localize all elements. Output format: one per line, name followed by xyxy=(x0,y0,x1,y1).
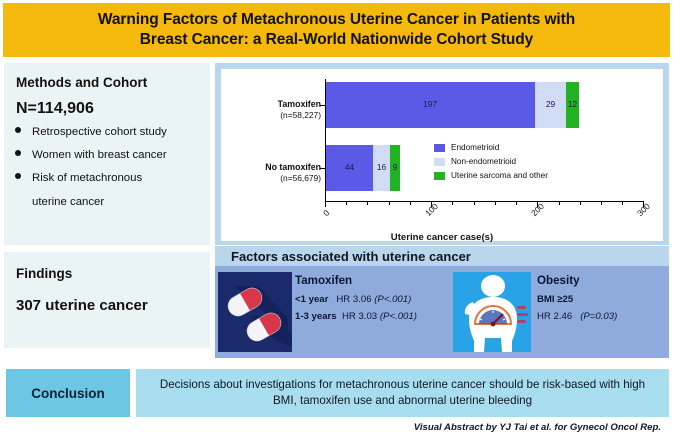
bullet-dot-icon xyxy=(15,127,21,133)
obese-person-scale-icon-svg xyxy=(453,272,531,352)
legend-swatch-icon xyxy=(434,158,445,166)
page-title-line-2: Breast Cancer: a Real-World Nationwide C… xyxy=(140,31,533,48)
methods-and-cohort-panel: Methods and Cohort N=114,906 Retrospecti… xyxy=(4,63,210,245)
chart-x-minor-tick xyxy=(367,201,368,205)
page-title-line-1: Warning Factors of Metachronous Uterine … xyxy=(98,11,575,28)
methods-bullet-text: Risk of metachronous xyxy=(32,172,142,184)
obese-person-scale-icon xyxy=(453,272,531,352)
legend-swatch-icon xyxy=(434,172,445,180)
legend-item-sarcoma: Uterine sarcoma and other xyxy=(434,171,548,180)
conclusion-text: Decisions about investigations for metac… xyxy=(150,377,655,410)
tamoxifen-period-1: <1 year xyxy=(295,294,328,305)
bullet-dot-icon xyxy=(15,150,21,156)
bar-value-sarcoma-tamoxifen: 12 xyxy=(565,99,580,109)
pill-capsules-icon xyxy=(218,272,292,352)
tamoxifen-factor-title: Tamoxifen xyxy=(295,274,447,287)
chart-x-minor-tick xyxy=(474,201,475,205)
legend-label: Non-endometrioid xyxy=(451,157,516,166)
chart-x-minor-tick xyxy=(495,201,496,205)
page-title: Warning Factors of Metachronous Uterine … xyxy=(82,10,591,51)
chart-x-tick-label: 100 xyxy=(423,201,440,218)
bar-value-sarcoma-no-tamoxifen: 9 xyxy=(389,162,401,172)
uterine-cancer-cases-chart-card: Tamoxifen (n=58,227) No tamoxifen (n=56,… xyxy=(215,63,669,245)
list-item: Retrospective cohort study xyxy=(14,124,200,140)
list-item: Women with breast cancer xyxy=(14,147,200,163)
chart-category-label-tamoxifen: Tamoxifen (n=58,227) xyxy=(227,99,321,121)
list-item-continuation: uterine cancer xyxy=(14,194,200,210)
factors-section: Tamoxifen <1 year HR 3.06 (P<.001) 1-3 y… xyxy=(215,266,669,358)
bar-value-endometrioid-tamoxifen: 197 xyxy=(406,99,454,109)
chart-x-minor-tick xyxy=(452,201,453,205)
list-item: Risk of metachronous xyxy=(14,170,200,186)
attribution-footer: Visual Abstract by YJ Tai et al. for Gyn… xyxy=(0,422,669,433)
chart-x-minor-tick xyxy=(410,201,411,205)
methods-bullet-text: Retrospective cohort study xyxy=(32,126,167,138)
obesity-pvalue: (P=0.03) xyxy=(580,311,617,322)
tamoxifen-pvalue-1: (P<.001) xyxy=(374,294,411,305)
chart-x-minor-tick xyxy=(622,201,623,205)
tamoxifen-hr-value-1: HR 3.06 xyxy=(336,294,371,305)
chart-category-sublabel: (n=58,227) xyxy=(227,110,321,121)
factors-section-heading: Factors associated with uterine cancer xyxy=(231,249,471,264)
obesity-factor-title: Obesity xyxy=(537,274,667,287)
chart-x-tick-label: 0 xyxy=(321,208,331,218)
bar-value-non-endometrioid-tamoxifen: 29 xyxy=(534,99,567,109)
tamoxifen-hr-row-1: <1 year HR 3.06 (P<.001) xyxy=(295,294,447,305)
findings-panel: Findings 307 uterine cancer xyxy=(4,252,210,348)
findings-value: 307 uterine cancer xyxy=(16,297,200,314)
conclusion-body-box: Decisions about investigations for metac… xyxy=(136,369,669,417)
methods-bullet-text: Women with breast cancer xyxy=(32,149,167,161)
chart-x-minor-tick xyxy=(516,201,517,205)
legend-item-non-endometrioid: Non-endometrioid xyxy=(434,157,548,166)
chart-category-sublabel: (n=56,679) xyxy=(227,173,321,184)
legend-label: Endometrioid xyxy=(451,143,499,152)
bar-value-endometrioid-no-tamoxifen: 44 xyxy=(328,162,371,172)
chart-x-tick-label: 200 xyxy=(529,201,546,218)
visual-abstract-page: Warning Factors of Metachronous Uterine … xyxy=(0,0,673,443)
chart-x-minor-tick xyxy=(580,201,581,205)
legend-label: Uterine sarcoma and other xyxy=(451,171,548,180)
legend-swatch-icon xyxy=(434,144,445,152)
obesity-criterion: BMI ≥25 xyxy=(537,294,667,305)
page-title-banner: Warning Factors of Metachronous Uterine … xyxy=(3,3,670,57)
cohort-size-value: N=114,906 xyxy=(16,100,200,118)
factors-section-heading-bar: Factors associated with uterine cancer xyxy=(215,246,669,266)
chart-x-axis-title: Uterine cancer case(s) xyxy=(221,232,663,243)
chart-x-minor-tick xyxy=(346,201,347,205)
chart-category-name: No tamoxifen xyxy=(227,162,321,173)
chart-x-minor-tick xyxy=(389,201,390,205)
tamoxifen-period-2: 1-3 years xyxy=(295,311,337,322)
obesity-hr-row: HR 2.46 (P=0.03) xyxy=(537,311,667,322)
methods-heading: Methods and Cohort xyxy=(16,75,200,90)
tamoxifen-pvalue-2: (P<.001) xyxy=(380,311,417,322)
methods-bullet-list: Retrospective cohort study Women with br… xyxy=(14,124,200,210)
tamoxifen-factor-card: Tamoxifen <1 year HR 3.06 (P<.001) 1-3 y… xyxy=(295,274,447,328)
chart-x-minor-tick xyxy=(601,201,602,205)
tamoxifen-hr-row-2: 1-3 years HR 3.03 (P<.001) xyxy=(295,311,447,322)
findings-heading: Findings xyxy=(16,266,200,281)
chart-x-tick-label: 300 xyxy=(635,201,652,218)
chart-legend: Endometrioid Non-endometrioid Uterine sa… xyxy=(434,143,548,185)
legend-item-endometrioid: Endometrioid xyxy=(434,143,548,152)
chart-x-major-tick xyxy=(325,201,326,207)
obesity-hr-value: HR 2.46 xyxy=(537,311,572,322)
chart-plot-surface: Tamoxifen (n=58,227) No tamoxifen (n=56,… xyxy=(221,69,663,241)
bullet-dot-icon xyxy=(15,173,21,179)
chart-category-label-no-tamoxifen: No tamoxifen (n=56,679) xyxy=(227,162,321,184)
chart-category-name: Tamoxifen xyxy=(227,99,321,110)
conclusion-label: Conclusion xyxy=(31,386,105,401)
tamoxifen-hr-value-2: HR 3.03 xyxy=(342,311,377,322)
pill-capsules-icon-svg xyxy=(218,272,292,352)
obesity-factor-card: Obesity BMI ≥25 HR 2.46 (P=0.03) xyxy=(537,274,667,328)
methods-bullet-text-continued: uterine cancer xyxy=(32,196,104,208)
chart-x-minor-tick xyxy=(559,201,560,205)
chart-x-axis xyxy=(325,201,643,202)
conclusion-label-box: Conclusion xyxy=(6,369,130,417)
